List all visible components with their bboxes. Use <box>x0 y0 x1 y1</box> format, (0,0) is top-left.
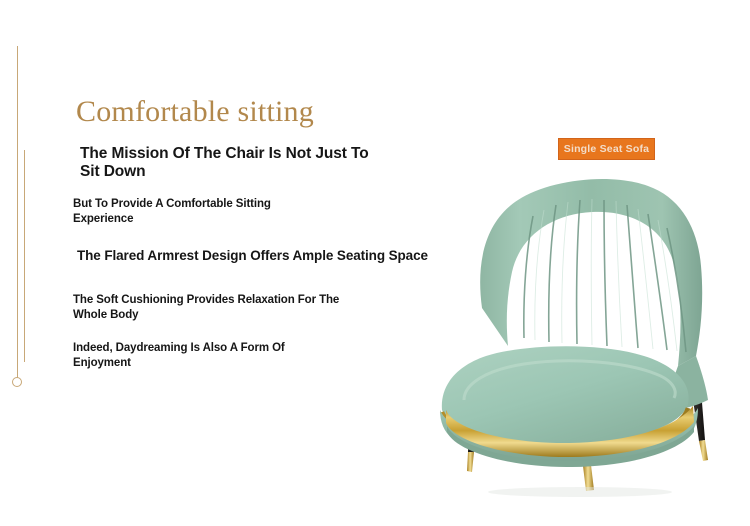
status-badge-single-seat-sofa: Single Seat Sofa <box>558 138 655 160</box>
page-title: Comfortable sitting <box>76 95 314 130</box>
decorative-vertical-line-inner <box>24 150 25 362</box>
decorative-vertical-line-outer <box>17 46 18 293</box>
feature-text-armrest: The Flared Armrest Design Offers Ample S… <box>77 248 428 265</box>
feature-text-experience: But To Provide A Comfortable Sitting Exp… <box>73 197 333 227</box>
feature-text-mission: The Mission Of The Chair Is Not Just To … <box>80 145 380 182</box>
feature-text-cushioning: The Soft Cushioning Provides Relaxation … <box>73 293 373 323</box>
product-promo-page: Comfortable sitting The Mission Of The C… <box>0 0 750 526</box>
product-image-green-accent-chair <box>420 160 750 500</box>
chair-floor-shadow <box>488 487 672 497</box>
feature-text-daydream: Indeed, Daydreaming Is Also A Form Of En… <box>73 341 333 371</box>
circle-outline-icon <box>12 377 22 387</box>
decorative-vertical-line-tail <box>17 293 18 378</box>
